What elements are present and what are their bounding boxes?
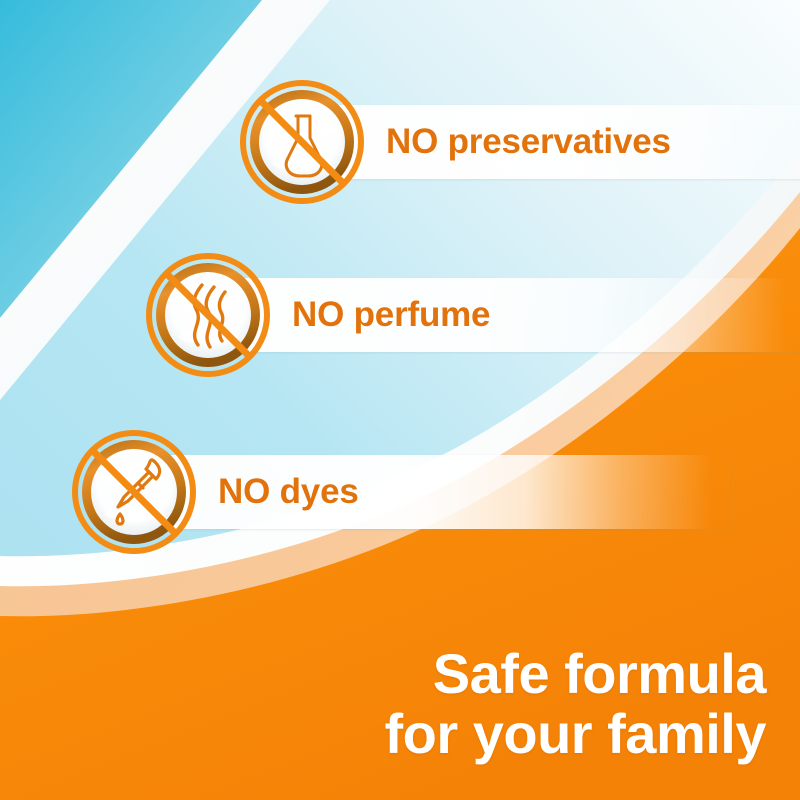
feature-label: NO preservatives [386, 122, 671, 162]
feature-label: NO dyes [218, 472, 359, 512]
feature-banner: NO dyes [130, 455, 730, 529]
no-dyes-icon [70, 428, 198, 556]
feature-banner: NO preservatives [298, 105, 800, 179]
tagline-line-1: Safe formula [385, 644, 766, 704]
tagline: Safe formula for your family [385, 644, 766, 764]
tagline-line-2: for your family [385, 704, 766, 764]
feature-label: NO perfume [292, 295, 490, 335]
feature-banner: NO perfume [204, 278, 800, 352]
feature-row-dyes: NO dyes [70, 428, 198, 556]
promo-banner: NO preservatives [0, 0, 800, 800]
feature-row-preservatives: NO preservatives [238, 78, 366, 206]
no-perfume-icon [144, 251, 272, 379]
feature-row-perfume: NO perfume [144, 251, 272, 379]
no-preservatives-icon [238, 78, 366, 206]
